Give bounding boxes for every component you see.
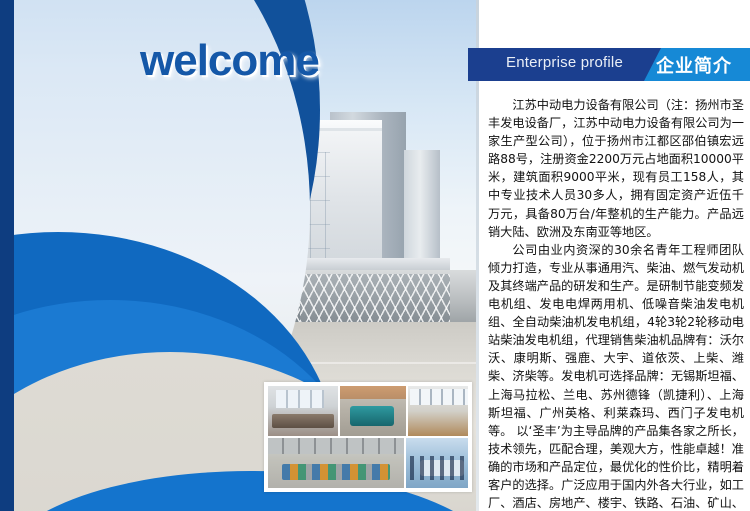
office-photo [408, 386, 468, 436]
left-navy-edge-strip [0, 0, 14, 511]
profile-paragraph-1: 江苏中动电力设备有限公司（注：扬州市圣丰发电设备厂，江苏中动电力设备有限公司为一… [488, 96, 744, 241]
hero-image-panel: 中动电力 江苏中动电力设备有限公司 Zhongdong Power Equipm… [0, 0, 476, 511]
sliding-gate-right [300, 274, 450, 322]
banner-english-label: Enterprise profile [506, 54, 623, 71]
profile-paragraph-2: 公司由业内资深的30余名青年工程师团队倾力打造，专业从事通用汽、柴油、燃气发动机… [488, 241, 744, 511]
profile-body-text: 江苏中动电力设备有限公司（注：扬州市圣丰发电设备厂，江苏中动电力设备有限公司为一… [488, 96, 744, 476]
company-profile-banner: 中动电力 江苏中动电力设备有限公司 Zhongdong Power Equipm… [0, 0, 750, 511]
factory-floor-photo [268, 438, 404, 488]
photo-row-bottom [268, 438, 468, 488]
photo-collage [264, 382, 472, 492]
photo-row-top [268, 386, 468, 436]
banner-chinese-label: 企业简介 [656, 52, 732, 78]
meeting-room-photo [268, 386, 338, 436]
conference-room-photo [406, 438, 468, 488]
generator-set-photo [340, 386, 406, 436]
welcome-title: welcome [140, 36, 319, 86]
